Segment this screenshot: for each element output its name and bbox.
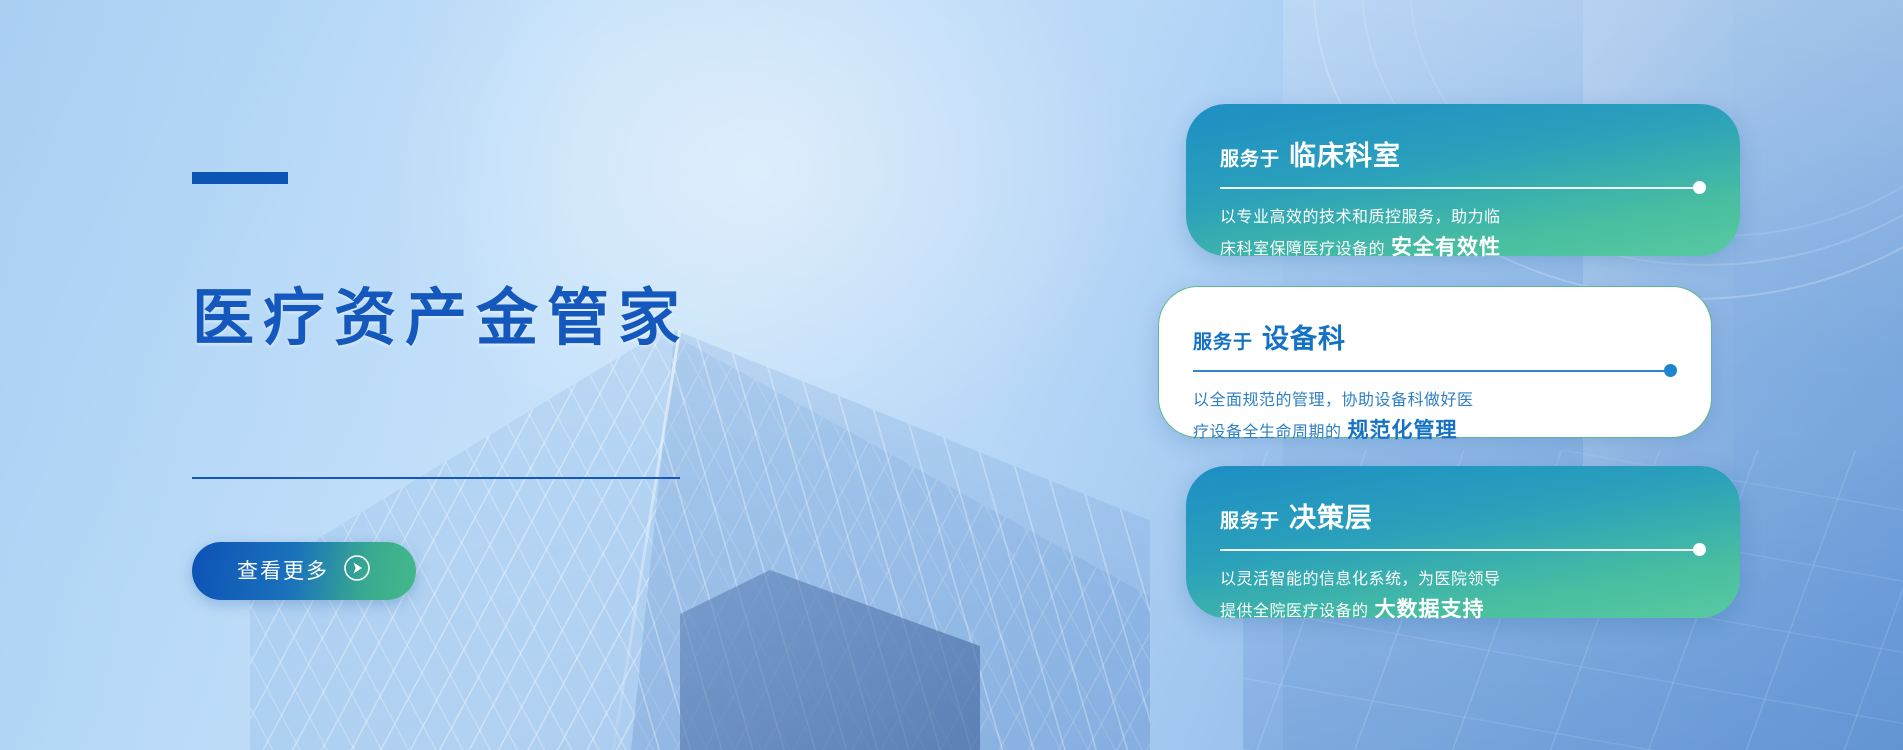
card-body: 以专业高效的技术和质控服务，助力临 床科室保障医疗设备的安全有效性 (1220, 205, 1706, 266)
card-body-line2: 提供全院医疗设备的 (1220, 603, 1369, 620)
card-body-line2: 疗设备全生命周期的 (1193, 424, 1342, 441)
service-card-list: 服务于 临床科室 以专业高效的技术和质控服务，助力临 床科室保障医疗设备的安全有… (1143, 0, 1903, 750)
card-body-line1: 以灵活智能的信息化系统，为医院领导 (1220, 571, 1501, 588)
card-rule (1193, 364, 1677, 378)
card-prefix: 服务于 (1220, 144, 1280, 171)
service-card-clinical[interactable]: 服务于 临床科室 以专业高效的技术和质控服务，助力临 床科室保障医疗设备的安全有… (1186, 104, 1740, 256)
page-title: 医疗资产金管家 (192, 288, 689, 350)
card-body-emphasis: 大数据支持 (1375, 598, 1485, 621)
card-body-line1: 以全面规范的管理，协助设备科做好医 (1193, 392, 1474, 409)
card-body-line2: 床科室保障医疗设备的 (1220, 241, 1385, 258)
card-prefix: 服务于 (1193, 327, 1253, 354)
card-body-emphasis: 规范化管理 (1348, 419, 1458, 442)
card-body: 以灵活智能的信息化系统，为医院领导 提供全院医疗设备的大数据支持 (1220, 567, 1706, 628)
card-target: 设备科 (1262, 317, 1346, 356)
title-accent-bar (192, 172, 288, 184)
card-prefix: 服务于 (1220, 506, 1280, 533)
service-card-decision[interactable]: 服务于 决策层 以灵活智能的信息化系统，为医院领导 提供全院医疗设备的大数据支持 (1186, 466, 1740, 618)
card-rule-line (1220, 549, 1694, 551)
card-body: 以全面规范的管理，协助设备科做好医 疗设备全生命周期的规范化管理 (1193, 388, 1677, 449)
hero-banner: 医疗资产金管家 查看更多 服务于 临床科室 以专业高效的技 (0, 0, 1903, 750)
card-target: 临床科室 (1289, 134, 1401, 173)
card-rule-dot (1693, 181, 1706, 194)
view-more-button[interactable]: 查看更多 (192, 542, 416, 600)
arrow-right-circle-icon (343, 554, 371, 588)
card-heading: 服务于 设备科 (1193, 317, 1677, 356)
section-divider (192, 477, 680, 479)
card-rule-line (1193, 370, 1665, 372)
card-heading: 服务于 临床科室 (1220, 134, 1706, 173)
card-rule-dot (1693, 543, 1706, 556)
card-body-line1: 以专业高效的技术和质控服务，助力临 (1220, 209, 1501, 226)
card-rule (1220, 543, 1706, 557)
card-heading: 服务于 决策层 (1220, 496, 1706, 535)
card-body-emphasis: 安全有效性 (1391, 236, 1501, 259)
card-rule-dot (1664, 364, 1677, 377)
hero-left-column: 医疗资产金管家 查看更多 (192, 0, 812, 750)
card-target: 决策层 (1289, 496, 1373, 535)
view-more-label: 查看更多 (237, 561, 329, 582)
service-card-equipment[interactable]: 服务于 设备科 以全面规范的管理，协助设备科做好医 疗设备全生命周期的规范化管理 (1158, 286, 1712, 438)
card-rule-line (1220, 187, 1694, 189)
card-rule (1220, 181, 1706, 195)
